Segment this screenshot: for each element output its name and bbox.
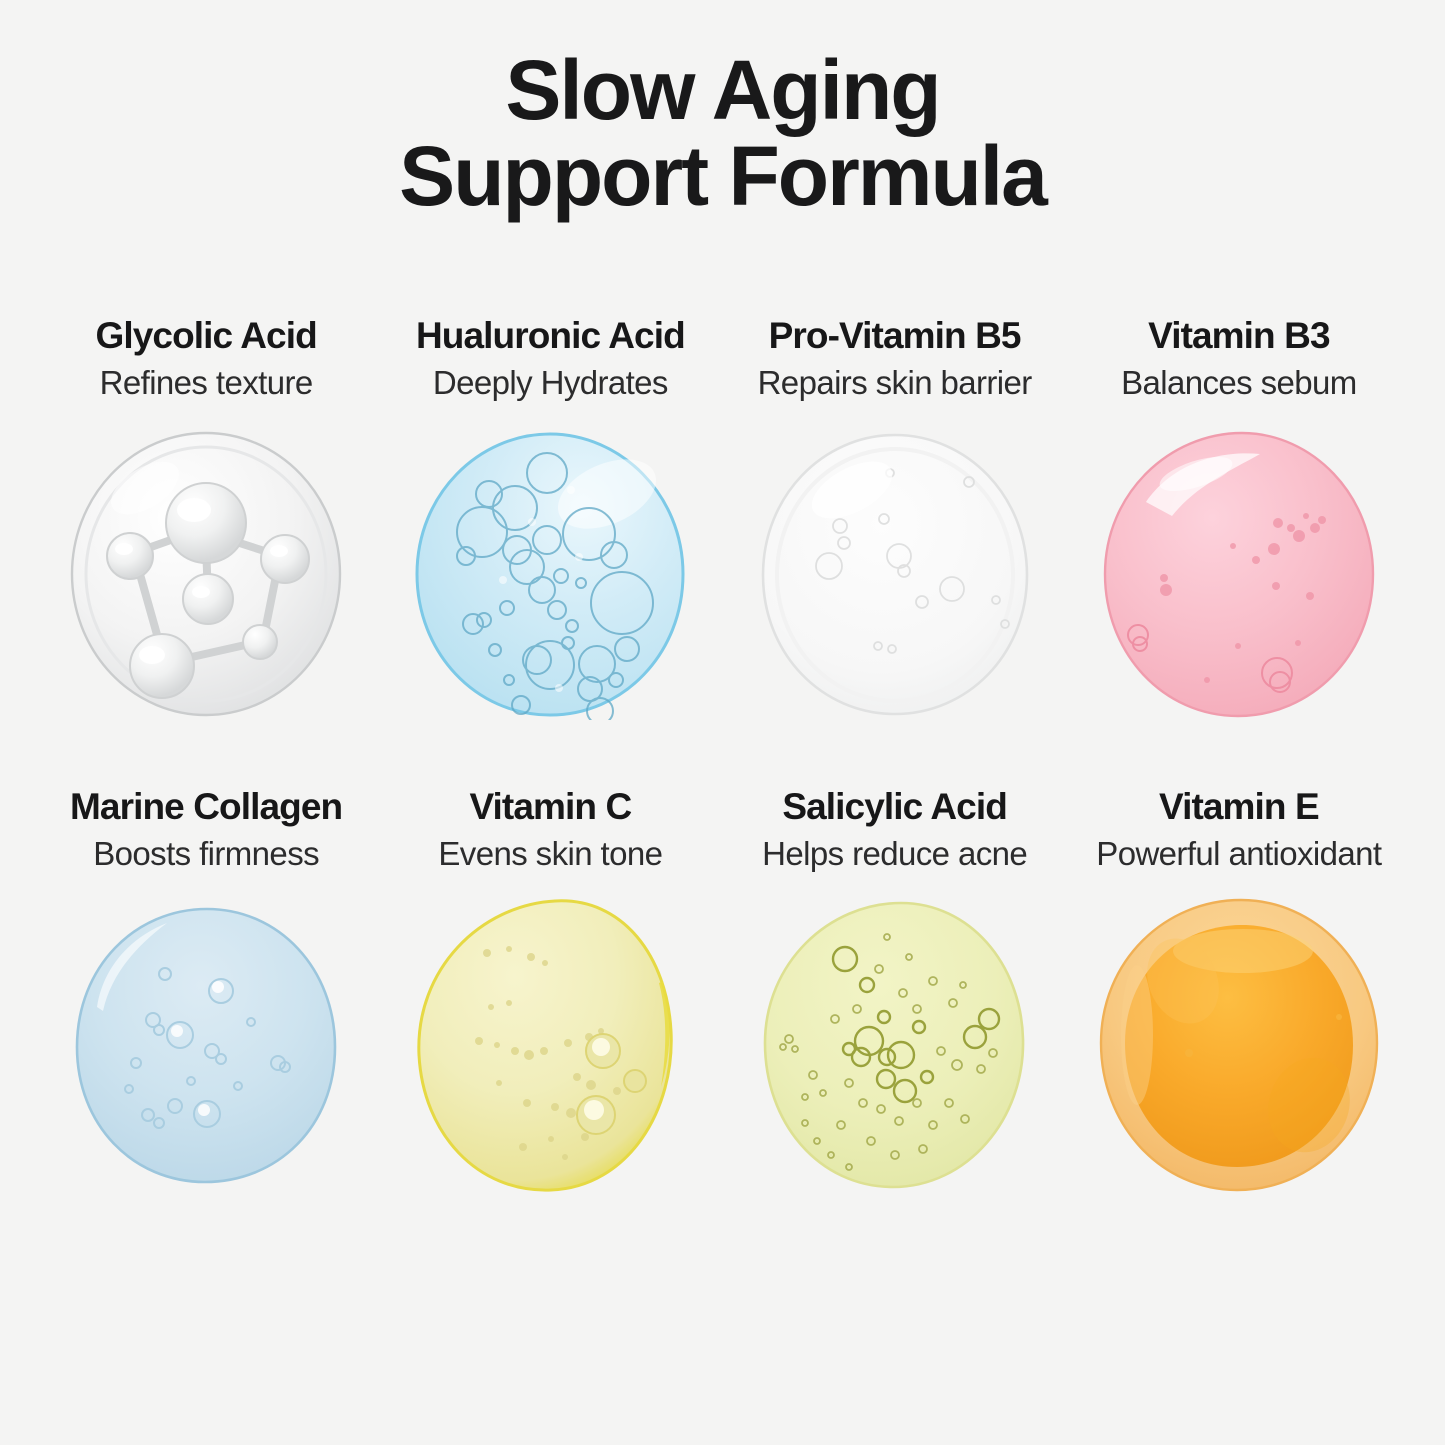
ingredient-description: Boosts firmness <box>93 834 319 874</box>
ingredient-name: Salicylic Acid <box>782 786 1007 827</box>
title-line-2: Support Formula <box>0 134 1445 220</box>
orange-gel-swatch <box>1089 895 1389 1195</box>
molecule-sphere-swatch <box>56 424 356 724</box>
ingredient-description: Repairs skin barrier <box>758 363 1032 403</box>
ingredient-description: Deeply Hydrates <box>433 363 668 403</box>
ingredient-grid: Glycolic Acid Refines texture <box>0 315 1445 1195</box>
pale-green-gel-swatch <box>745 895 1045 1195</box>
ingredient-card-marine-collagen: Marine Collagen Boosts firmness <box>34 786 378 1195</box>
ingredient-card-salicylic-acid: Salicylic Acid Helps reduce acne <box>723 786 1067 1195</box>
ingredient-card-vitamin-b3: Vitamin B3 Balances sebum <box>1067 315 1411 724</box>
ingredient-name: Marine Collagen <box>70 786 342 827</box>
ingredient-card-vitamin-c: Vitamin C Evens skin tone <box>378 786 722 1195</box>
ingredient-description: Evens skin tone <box>438 834 662 874</box>
ingredient-description: Helps reduce acne <box>762 834 1027 874</box>
ingredient-description: Powerful antioxidant <box>1096 834 1381 874</box>
ingredient-name: Hualuronic Acid <box>416 315 685 356</box>
yellow-gel-swatch <box>400 895 700 1195</box>
ingredient-card-pro-vitamin-b5: Pro-Vitamin B5 Repairs skin barrier <box>723 315 1067 724</box>
clear-gel-swatch <box>745 424 1045 724</box>
ingredient-card-vitamin-e: Vitamin E Powerful antioxidant <box>1067 786 1411 1195</box>
ingredient-name: Vitamin B3 <box>1148 315 1330 356</box>
ingredient-name: Glycolic Acid <box>95 315 316 356</box>
ingredient-name: Vitamin E <box>1159 786 1319 827</box>
ingredient-card-hualuronic-acid: Hualuronic Acid Deeply Hydrates <box>378 315 722 724</box>
ingredient-name: Pro-Vitamin B5 <box>769 315 1021 356</box>
pink-gel-swatch <box>1089 424 1389 724</box>
ingredient-description: Refines texture <box>100 363 313 403</box>
light-blue-gel-swatch <box>56 895 356 1195</box>
ingredient-name: Vitamin C <box>469 786 631 827</box>
title-line-1: Slow Aging <box>0 48 1445 134</box>
ingredient-card-glycolic-acid: Glycolic Acid Refines texture <box>34 315 378 724</box>
blue-bubble-gel-swatch <box>400 424 700 724</box>
page-title: Slow Aging Support Formula <box>0 0 1445 219</box>
ingredient-description: Balances sebum <box>1121 363 1357 403</box>
